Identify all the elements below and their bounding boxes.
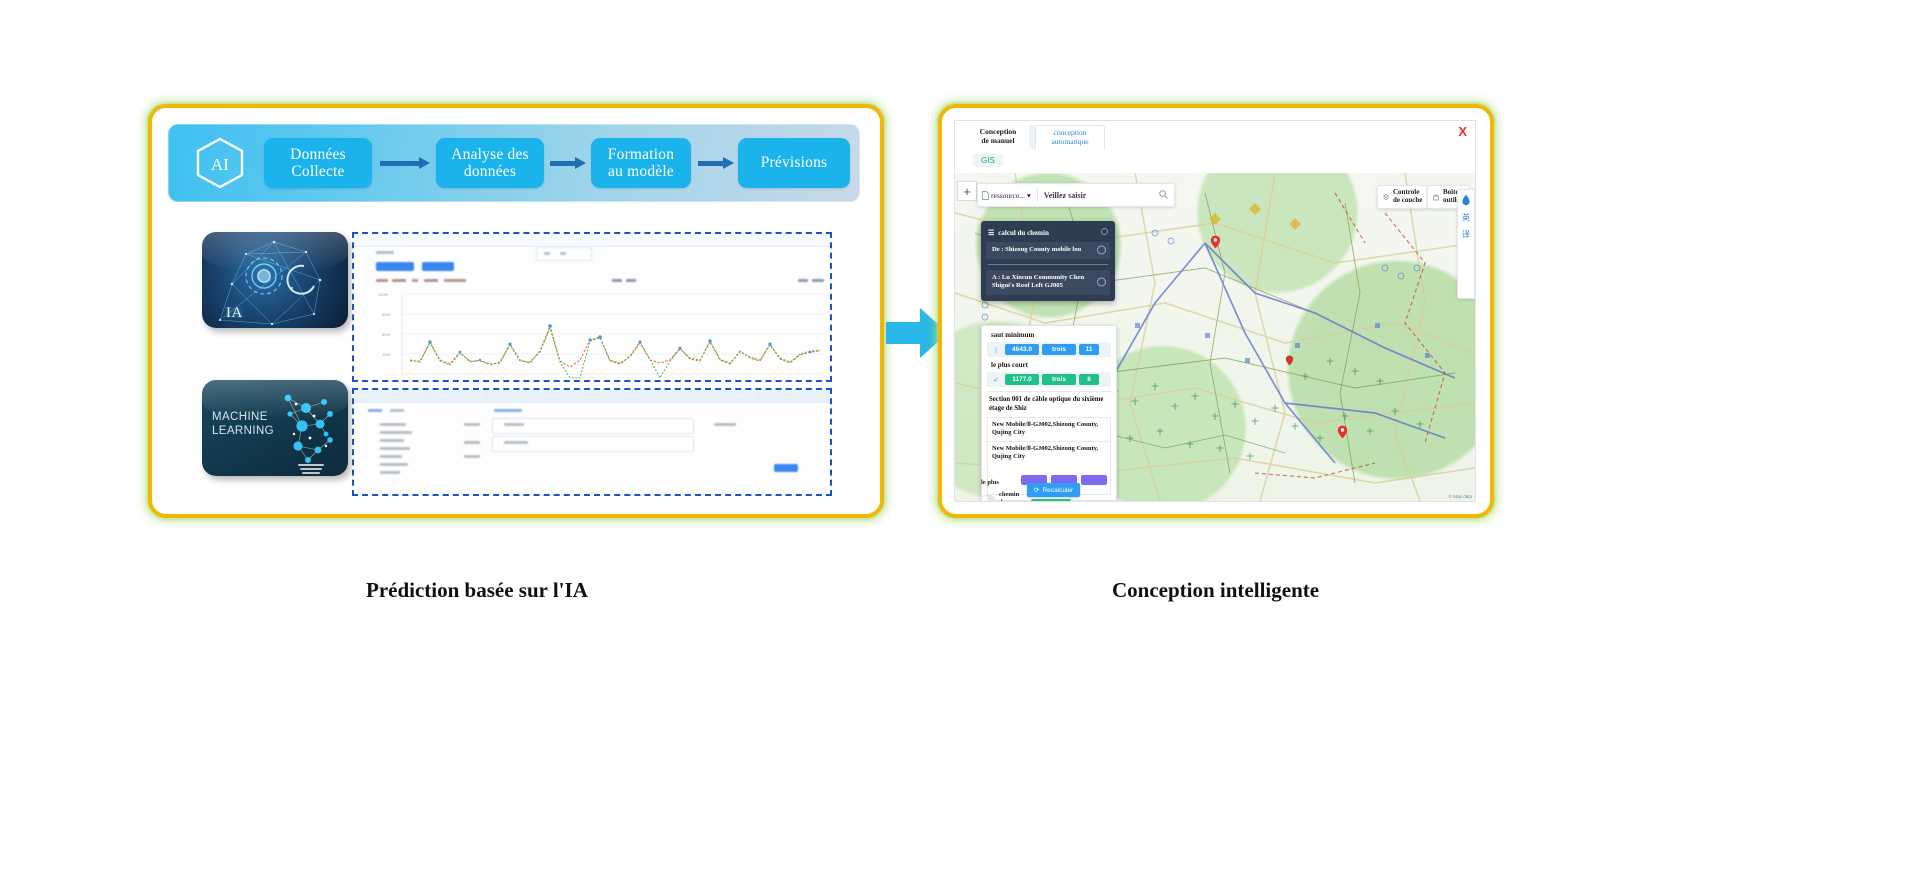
mini-legend: [812, 279, 824, 282]
mini-row: [380, 471, 400, 474]
gis-tab-bar: Conception de manuel conception automati…: [955, 121, 1475, 152]
list-item[interactable]: New Mobile/ll-GJ002,Shizong County, Quji…: [987, 417, 1111, 441]
menu-icon: ☰: [988, 229, 994, 237]
mini-field-label: [464, 455, 480, 458]
translate-icon-2[interactable]: 译: [1462, 229, 1470, 240]
mini-row: [380, 439, 404, 442]
shortest-hops: trois: [1042, 374, 1076, 385]
prediction-form-screenshot: [352, 388, 832, 496]
flow-step-4[interactable]: Prévisions: [738, 138, 850, 188]
ml-thumbnail-label: MACHINE LEARNING: [212, 410, 274, 439]
mini-legend: [444, 279, 466, 282]
gis-subheader: GIS: [955, 151, 1475, 173]
mini-legend: [612, 279, 622, 282]
close-icon[interactable]: X: [1458, 125, 1467, 138]
left-caption: Prédiction basée sur l'IA: [366, 578, 588, 603]
path-to-text: A : Lu Xincun Community Chen Shigui's Ro…: [992, 274, 1084, 290]
mini-topbar: [354, 390, 830, 403]
search-icon[interactable]: [1159, 186, 1168, 204]
gis-application-window: Conception de manuel conception automati…: [954, 120, 1476, 502]
flow-step-2-line2: données: [464, 163, 516, 180]
mini-button[interactable]: [376, 262, 414, 271]
ai-brain-thumbnail: IA: [202, 232, 348, 328]
min-jump-distance: 4643.0: [1005, 344, 1039, 355]
svg-text:60%: 60%: [382, 332, 390, 337]
mini-legend: [424, 279, 438, 282]
locate-icon[interactable]: [1097, 278, 1106, 287]
map-marker-end[interactable]: [1337, 425, 1348, 439]
recalculate-button[interactable]: ⟳ Recalculer: [1027, 483, 1080, 497]
refresh-icon: ⟳: [1034, 486, 1039, 494]
min-jump-title: saut minimum: [991, 331, 1111, 339]
ml-label-line1: MACHINE: [212, 410, 274, 424]
map-search-bar[interactable]: ressource... ▾ Veillez saisir: [977, 183, 1175, 207]
chevron-down-icon: ▾: [1027, 191, 1031, 200]
flow-step-2-line1: Analyse des: [451, 146, 529, 163]
mini-legend: [392, 279, 406, 282]
path-panel-header: ☰ calcul du chemin: [986, 226, 1110, 242]
flow-arrow-3: [698, 157, 734, 169]
ai-prediction-card: AI Données Collecte Analyse des données …: [148, 104, 884, 518]
min-jump-row[interactable]: | 4643.0 trois 11: [987, 342, 1111, 357]
mini-row: [380, 463, 408, 466]
min-jump-hops: trois: [1042, 344, 1076, 355]
right-caption: Conception intelligente: [1112, 578, 1319, 603]
water-drop-icon[interactable]: [1461, 194, 1471, 206]
mini-label: [376, 251, 394, 254]
min-jump-marker: |: [990, 346, 1002, 354]
mini-row: [380, 431, 412, 434]
check-icon: ✓: [990, 376, 1002, 384]
path-from-text: De : Shizong County mobile lou: [992, 246, 1081, 253]
flow-step-4-line1: Prévisions: [761, 154, 828, 171]
mini-topbar: [354, 234, 830, 247]
divider: [988, 264, 1108, 265]
map-attribution: © Map data: [1449, 494, 1472, 499]
pose-path-line3: de pose: [999, 499, 1019, 501]
path-calculation-panel: ☰ calcul du chemin De : Shizong County m…: [981, 221, 1115, 301]
ai-thumbnail-label: IA: [226, 305, 243, 322]
shortest-count: 8: [1079, 374, 1099, 385]
layer-control-line2: de couche: [1393, 197, 1422, 205]
mini-value: [504, 423, 524, 426]
mini-value: [504, 441, 528, 444]
mini-legend: [798, 279, 808, 282]
mini-field-label: [464, 441, 480, 444]
mini-input[interactable]: [492, 418, 694, 434]
mini-submit-button[interactable]: [774, 464, 798, 472]
help-icon[interactable]: [1101, 228, 1108, 237]
layer-control-button[interactable]: Controle de couche: [1377, 185, 1428, 209]
resource-selector[interactable]: ressource... ▾: [978, 191, 1031, 200]
flow-step-3-line1: Formation: [608, 146, 674, 163]
flow-step-1[interactable]: Données Collecte: [264, 138, 372, 188]
path-from-field[interactable]: De : Shizong County mobile lou: [986, 242, 1110, 259]
tab-auto-line2: automatique: [1051, 138, 1088, 147]
flow-step-3[interactable]: Formation au modèle: [591, 138, 691, 188]
mini-legend: [412, 279, 418, 282]
min-jump-count: 11: [1079, 344, 1099, 355]
mini-input[interactable]: [492, 436, 694, 452]
flow-arrow-1: [380, 157, 430, 169]
prediction-chart-screenshot: 100%80% 60%40%: [352, 232, 832, 382]
flow-arrow-2: [550, 157, 586, 169]
mini-row: [380, 423, 406, 426]
section-title: Section 001 de câble optique du sixième …: [987, 391, 1111, 417]
flow-step-3-line2: au modèle: [608, 163, 674, 180]
recalculate-label: Recalculer: [1042, 487, 1073, 494]
slide-root: AI Données Collecte Analyse des données …: [0, 0, 1920, 870]
toolbox-icon: [1433, 194, 1439, 201]
intelligent-design-card: Conception de manuel conception automati…: [938, 104, 1494, 518]
machine-learning-thumbnail: MACHINE LEARNING: [202, 380, 348, 476]
shortest-row[interactable]: ✓ 1177.0 trois 8: [987, 372, 1111, 387]
layers-icon: [1383, 194, 1389, 201]
resource-label: ressource...: [991, 191, 1025, 200]
zoom-in-button[interactable]: +: [957, 181, 977, 201]
mini-field-label: [714, 423, 736, 426]
ml-label-line2: LEARNING: [212, 424, 274, 438]
pose-path-label: chemin de pose: [999, 491, 1019, 501]
svg-text:40%: 40%: [382, 352, 390, 357]
tab-manual-line2: de manuel: [981, 137, 1014, 146]
ai-flow-diagram: AI Données Collecte Analyse des données …: [168, 124, 860, 202]
svg-text:AI: AI: [211, 155, 229, 174]
mini-legend: [626, 279, 636, 282]
list-item[interactable]: New Mobile/ll-GJ002,Shizong County, Quji…: [987, 441, 1111, 465]
ok-button[interactable]: ✓ OK: [1031, 499, 1071, 501]
mini-row: [380, 447, 410, 450]
mini-row: [380, 455, 402, 458]
mini-tab[interactable]: [368, 409, 382, 412]
flow-step-1-line1: Données: [290, 146, 346, 163]
footer-label-top: le plus: [981, 479, 999, 486]
tab-manual-design[interactable]: Conception de manuel: [967, 125, 1029, 149]
pose-path-toggle[interactable]: [981, 495, 995, 501]
thumb-gloss: [202, 232, 348, 272]
right-rail: 英 译: [1457, 189, 1475, 299]
locate-icon[interactable]: [1097, 246, 1106, 255]
translate-icon-1[interactable]: 英: [1462, 212, 1470, 223]
pose-path-line2: chemin: [999, 491, 1019, 498]
mini-label: [560, 252, 566, 255]
mini-tab[interactable]: [494, 409, 522, 412]
path-panel-title: calcul du chemin: [998, 229, 1049, 237]
chip: [1081, 475, 1107, 485]
gis-module-chip[interactable]: GIS: [973, 154, 1003, 167]
shortest-distance: 1177.0: [1005, 374, 1039, 385]
flow-step-1-line2: Collecte: [291, 163, 344, 180]
map-marker-mid[interactable]: [1285, 353, 1296, 367]
svg-text:100%: 100%: [378, 292, 389, 297]
svg-text:80%: 80%: [382, 312, 390, 317]
path-to-field[interactable]: A : Lu Xincun Community Chen Shigui's Ro…: [986, 270, 1110, 295]
divider: [1037, 188, 1038, 202]
mini-legend: [376, 279, 388, 282]
line-chart-plot: 100%80% 60%40%: [354, 290, 830, 380]
mini-label: [544, 252, 550, 255]
shortest-title: le plus court: [991, 361, 1111, 369]
tab-automatic-design[interactable]: conception automatique: [1035, 125, 1105, 150]
flow-step-2[interactable]: Analyse des données: [436, 138, 544, 188]
mini-tab[interactable]: [390, 409, 404, 412]
document-icon: [982, 191, 989, 200]
map-marker-start[interactable]: [1210, 235, 1221, 249]
ai-hexagon-icon: AI: [192, 135, 248, 191]
search-input[interactable]: Veillez saisir: [1044, 191, 1087, 200]
mini-field-label: [464, 423, 480, 426]
mini-button[interactable]: [422, 262, 454, 271]
map-canvas[interactable]: + ressource... ▾ Veillez saisir: [955, 173, 1475, 501]
